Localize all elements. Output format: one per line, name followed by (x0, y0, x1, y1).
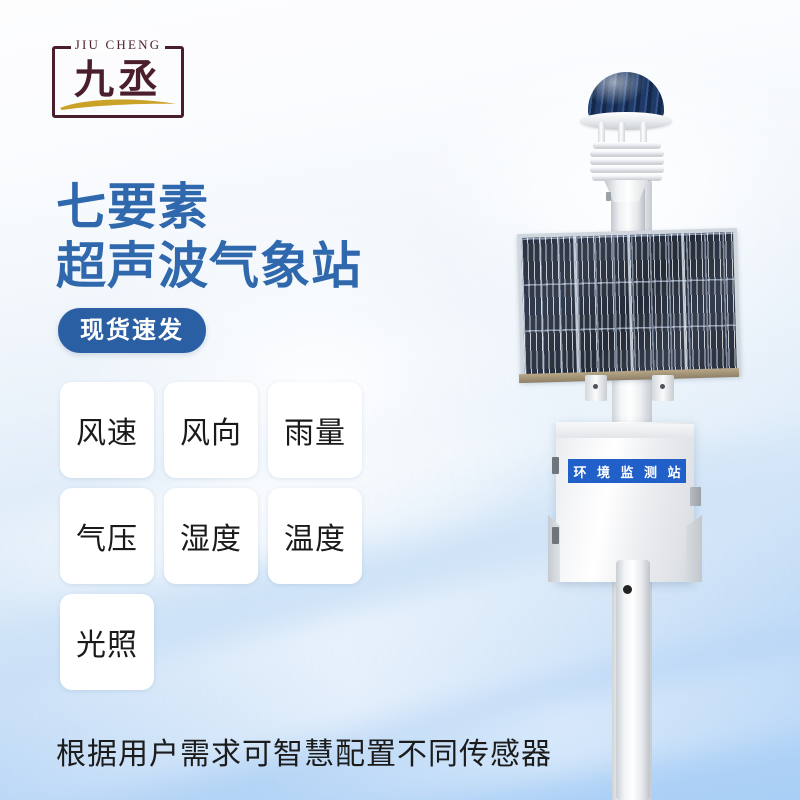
feature-card-air-pressure[interactable]: 气压 (60, 488, 154, 584)
enclosure-label: 环 境 监 测 站 (568, 459, 686, 483)
solar-busbar (573, 236, 579, 376)
enclosure-left-skirt (548, 515, 560, 582)
mounting-pole-lower (616, 560, 650, 800)
sensor-connector-tab (606, 192, 611, 201)
product-poster: JIU CHENG 九丞 七要素 超声波气象站 现货速发 风速 风向 雨量 气压… (0, 0, 800, 800)
panel-mount-bracket (652, 375, 674, 401)
bottom-caption: 根据用户需求可智慧配置不同传感器 (56, 735, 552, 775)
mounting-pole (612, 180, 652, 800)
enclosure-right-side (686, 515, 702, 582)
bracket-bolt (660, 384, 665, 389)
shield-fin (590, 158, 664, 164)
bracket-bolt (593, 384, 598, 389)
control-enclosure: 环 境 监 测 站 (556, 422, 694, 582)
feature-card-wind-direction[interactable]: 风向 (164, 382, 258, 478)
solar-panel (517, 228, 741, 382)
sensor-arm (618, 122, 625, 148)
sensor-neck (604, 180, 648, 202)
logo-latin-label: JIU CHENG (71, 37, 166, 52)
solar-panel-cells (521, 232, 737, 378)
feature-card-humidity[interactable]: 湿度 (164, 488, 258, 584)
enclosure-top-bevel (556, 422, 694, 438)
shield-fin (590, 150, 664, 156)
sensor-dome-ring (580, 112, 672, 130)
pole-bolt (623, 585, 632, 594)
status-badge: 现货速发 (58, 308, 206, 353)
feature-card-illuminance[interactable]: 光照 (60, 594, 154, 690)
solar-busbar (627, 235, 633, 375)
sensor-dome-icon (588, 72, 664, 118)
headline-line-1: 七要素 (56, 178, 209, 236)
enclosure-hinge (552, 457, 559, 474)
radiation-shield (590, 142, 664, 186)
feature-card-wind-speed[interactable]: 风速 (60, 382, 154, 478)
mounting-pole-upper (611, 182, 645, 292)
background-glow-right (420, 40, 800, 360)
brand-logo: JIU CHENG 九丞 (52, 46, 184, 118)
solar-panel-frame (519, 368, 739, 383)
feature-card-temperature[interactable]: 温度 (268, 488, 362, 584)
shield-fin (590, 166, 664, 172)
sensor-arm (640, 122, 647, 148)
enclosure-face (556, 422, 694, 582)
feature-card-rainfall[interactable]: 雨量 (268, 382, 362, 478)
page-title: 七要素 超声波气象站 (56, 178, 362, 296)
enclosure-latch (690, 487, 701, 506)
shield-fin (592, 174, 662, 180)
sensor-arm (598, 122, 605, 148)
logo-latin-text: JIU CHENG (52, 37, 184, 53)
logo-swoosh-icon (58, 95, 178, 111)
ultrasonic-sensor-head (566, 72, 686, 207)
panel-mount-bracket (585, 375, 607, 401)
feature-card-grid: 风速 风向 雨量 气压 湿度 温度 光照 (60, 382, 382, 690)
shield-fin (593, 142, 661, 148)
headline-line-2: 超声波气象站 (56, 237, 362, 296)
solar-busbar (681, 233, 687, 373)
background-streak-upper (323, 256, 800, 494)
enclosure-hinge (552, 527, 559, 544)
